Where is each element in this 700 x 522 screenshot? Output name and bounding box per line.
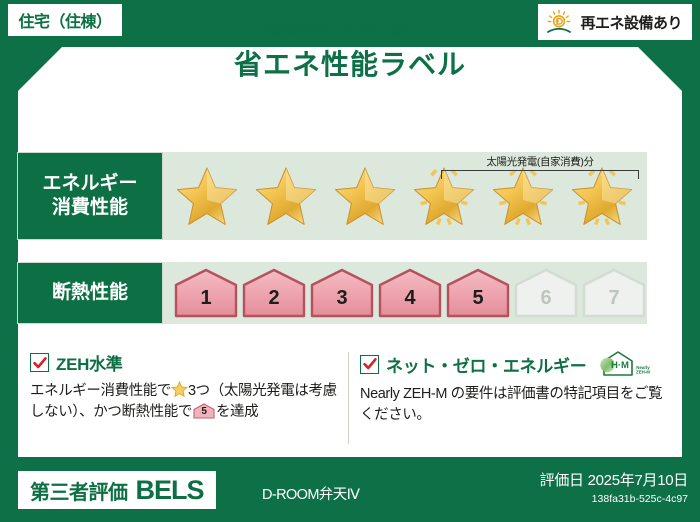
insulation-badge-inline-number: 5 xyxy=(193,405,215,420)
svg-text:H·M: H·M xyxy=(611,360,629,371)
insulation-level-7: 7 xyxy=(581,267,647,319)
energy-label-line2: 消費性能 xyxy=(52,196,128,220)
title-main: 省エネ性能ラベル xyxy=(0,43,700,83)
insulation-level-6: 6 xyxy=(513,267,579,319)
svg-text:ZEH-M: ZEH-M xyxy=(636,370,650,375)
insulation-performance-row: 断熱性能 1 xyxy=(17,262,647,324)
star-icon xyxy=(171,381,188,398)
bels-jp-label: 第三者評価 xyxy=(30,476,128,505)
insulation-level-3: 3 xyxy=(309,267,375,319)
energy-performance-label: 住宅（住棟） 再エネ設備あり 建築 xyxy=(0,0,700,522)
insulation-level-5: 5 xyxy=(445,267,511,319)
insulation-level-2: 2 xyxy=(241,267,307,319)
bels-certification-box: 第三者評価 BELS xyxy=(18,471,216,509)
insulation-performance-label-box: 断熱性能 xyxy=(17,262,163,324)
insulation-level-number: 3 xyxy=(309,287,375,310)
insulation-level-number: 6 xyxy=(513,287,579,310)
energy-performance-body: 太陽光発電(自家消費)分 xyxy=(163,152,647,240)
star-1 xyxy=(169,158,245,234)
footer: 第三者評価 BELS D-ROOM弁天Ⅳ 評価日 2025年7月10日 138f… xyxy=(0,457,700,522)
feature-net-zero-energy: ネット・ゼロ・エネルギー H·M Nearly ZEH-M xyxy=(360,350,670,426)
insulation-level-number: 4 xyxy=(377,287,443,310)
star-4 xyxy=(406,158,482,234)
feature-zeh-title: ZEH水準 xyxy=(56,350,123,375)
evaluation-id: 138fa31b-525c-4c97 xyxy=(540,493,688,505)
zeh-m-logo: H·M Nearly ZEH-M xyxy=(598,350,654,378)
star-rating xyxy=(163,158,647,234)
insulation-level-scale: 1 2 xyxy=(163,262,647,324)
feature-zeh-header: ZEH水準 xyxy=(30,350,338,375)
checkmark-icon xyxy=(360,355,379,374)
evaluation-date: 評価日 2025年7月10日 xyxy=(540,469,688,490)
checkmark-icon xyxy=(30,353,49,372)
feature-zeh-body: エネルギー消費性能で 3つ（太陽光発電は考慮しない）、かつ断熱性能で 5 を達成 xyxy=(30,381,338,423)
building-name: D-ROOM弁天Ⅳ xyxy=(262,483,359,504)
star-2 xyxy=(248,158,324,234)
energy-performance-label-box: エネルギー 消費性能 xyxy=(17,152,163,240)
energy-performance-row: エネルギー 消費性能 xyxy=(17,152,647,240)
insulation-level-number: 1 xyxy=(173,287,239,310)
evaluation-info: 評価日 2025年7月10日 138fa31b-525c-4c97 xyxy=(540,469,688,505)
title-subtitle: 建築物省エネ法に基づく xyxy=(0,18,700,39)
insulation-level-number: 7 xyxy=(581,287,647,310)
feature-nze-body: Nearly ZEH-M の要件は評価書の特記項目をご覧ください。 xyxy=(360,384,670,426)
star-6 xyxy=(564,158,640,234)
insulation-label: 断熱性能 xyxy=(52,281,128,305)
star-3 xyxy=(327,158,403,234)
feature-nze-header: ネット・ゼロ・エネルギー H·M Nearly ZEH-M xyxy=(360,350,670,378)
insulation-level-number: 2 xyxy=(241,287,307,310)
title-block: 建築物省エネ法に基づく 省エネ性能ラベル xyxy=(0,18,700,83)
bels-en-label: BELS xyxy=(136,475,204,506)
insulation-level-4: 4 xyxy=(377,267,443,319)
feature-zeh-text-1: エネルギー消費性能で xyxy=(30,383,171,399)
energy-label-line1: エネルギー xyxy=(42,172,137,196)
insulation-performance-body: 1 2 xyxy=(163,262,647,324)
feature-zeh-text-3: を達成 xyxy=(216,404,258,420)
star-5 xyxy=(485,158,561,234)
insulation-level-number: 5 xyxy=(445,287,511,310)
insulation-level-1: 1 xyxy=(173,267,239,319)
insulation-badge-inline: 5 xyxy=(193,403,215,419)
feature-zeh-standard: ZEH水準 エネルギー消費性能で 3つ（太陽光発電は考慮しない）、かつ断熱性能で… xyxy=(30,350,338,423)
feature-divider xyxy=(348,352,349,444)
feature-nze-title: ネット・ゼロ・エネルギー xyxy=(386,352,586,377)
